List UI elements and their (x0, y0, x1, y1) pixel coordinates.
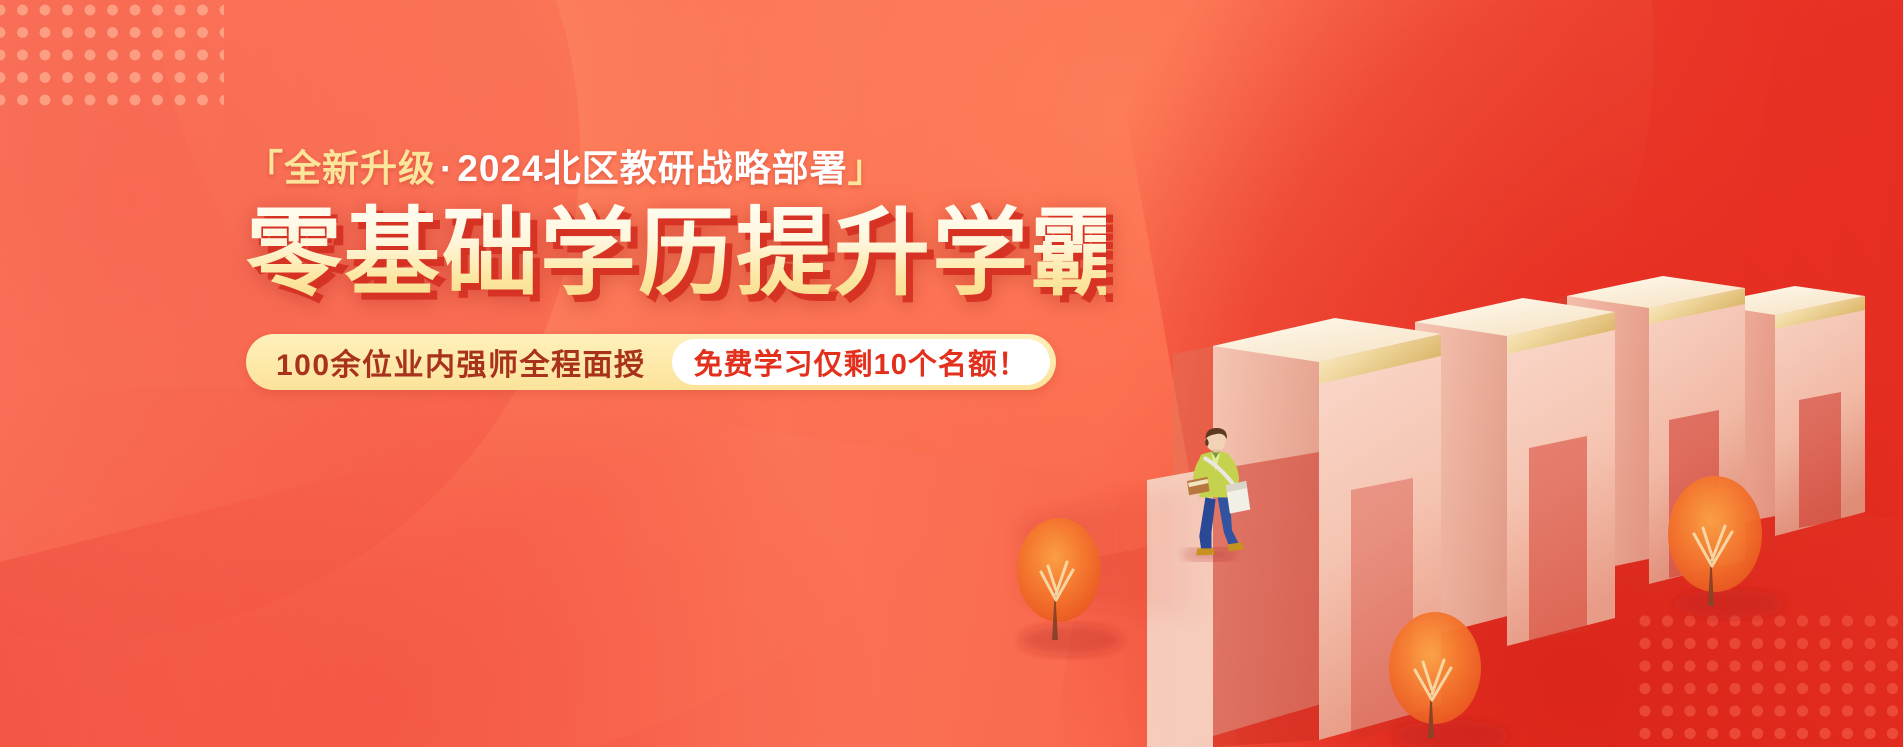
banner-headline: 零基础学历提升学霸班 (246, 202, 1106, 306)
banner-subtitle: 「全新升级·2024北区教研战略部署」 (246, 146, 1106, 192)
seats-badge[interactable]: 免费学习仅剩10个名额！ (672, 339, 1050, 385)
subtitle-close-bracket: 」 (848, 148, 886, 189)
subtitle-accent-text: 全新升级 (284, 148, 436, 189)
subtitle-separator: · (436, 148, 457, 189)
banner-text-block: 「全新升级·2024北区教研战略部署」 零基础学历提升学霸班 100余位业内强师… (246, 146, 1106, 390)
banner-pill-row: 100余位业内强师全程面授 免费学习仅剩10个名额！ (246, 334, 1106, 390)
subtitle-white-text: 2024北区教研战略部署 (457, 148, 847, 189)
feature-pill-label: 100余位业内强师全程面授 (276, 340, 646, 384)
subtitle-open-bracket: 「 (246, 148, 284, 189)
feature-pill: 100余位业内强师全程面授 免费学习仅剩10个名额！ (246, 334, 1056, 390)
promo-banner: 「全新升级·2024北区教研战略部署」 零基础学历提升学霸班 100余位业内强师… (0, 0, 1903, 747)
seats-badge-label: 免费学习仅剩10个名额！ (694, 341, 1028, 383)
